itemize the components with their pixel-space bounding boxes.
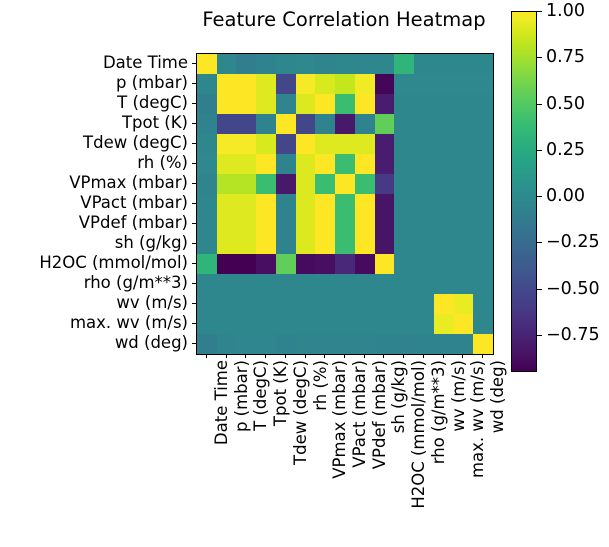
x-tick-label-1: p (mbar)	[232, 360, 251, 432]
heatmap-cell	[217, 154, 237, 174]
heatmap-cell	[414, 334, 434, 354]
heatmap-cell	[434, 174, 454, 194]
y-tick-label-12: wv (m/s)	[0, 293, 188, 313]
heatmap-cell	[434, 214, 454, 234]
heatmap-cell	[217, 114, 237, 134]
heatmap-cell	[315, 254, 335, 274]
heatmap-cell	[454, 314, 474, 334]
heatmap-cell	[276, 134, 296, 154]
y-tick-label-11: rho (g/m**3)	[0, 273, 188, 293]
heatmap-cell	[296, 154, 316, 174]
heatmap-cell	[236, 94, 256, 114]
colorbar-tick-mark-0	[537, 11, 542, 12]
heatmap-cell	[335, 94, 355, 114]
heatmap-cell	[217, 134, 237, 154]
heatmap-cell	[296, 334, 316, 354]
heatmap-cell	[473, 54, 493, 74]
heatmap-cell	[414, 274, 434, 294]
colorbar-tick-label-2: 0.50	[546, 94, 585, 114]
heatmap-cell	[315, 74, 335, 94]
heatmap-cell	[217, 234, 237, 254]
x-tick-mark-9	[383, 354, 384, 358]
colorbar-tick-mark-7	[537, 335, 542, 336]
heatmap-cell	[315, 214, 335, 234]
x-tick-mark-12	[443, 354, 444, 358]
heatmap-cell	[394, 314, 414, 334]
heatmap-cell	[217, 74, 237, 94]
heatmap-cell	[414, 154, 434, 174]
heatmap-cell	[335, 134, 355, 154]
y-tick-label-3: Tpot (K)	[0, 113, 188, 133]
heatmap-cell	[375, 134, 395, 154]
heatmap-cell	[414, 214, 434, 234]
heatmap-cell	[335, 74, 355, 94]
heatmap-cell	[315, 154, 335, 174]
heatmap-cell	[473, 314, 493, 334]
heatmap-cell	[355, 174, 375, 194]
heatmap-cell	[473, 154, 493, 174]
heatmap-cell	[394, 214, 414, 234]
heatmap-cell	[394, 134, 414, 154]
heatmap-cell	[217, 274, 237, 294]
heatmap-cell	[394, 334, 414, 354]
heatmap-cell	[335, 294, 355, 314]
heatmap-cell	[355, 214, 375, 234]
heatmap-cell	[276, 114, 296, 134]
heatmap-cell	[276, 234, 296, 254]
heatmap-cell	[414, 54, 434, 74]
heatmap-cell	[473, 294, 493, 314]
colorbar-tick-label-5: −0.25	[546, 232, 600, 252]
heatmap-cell	[375, 214, 395, 234]
heatmap-cell	[355, 94, 375, 114]
colorbar-tick-mark-2	[537, 104, 542, 105]
heatmap-cell	[236, 194, 256, 214]
heatmap-cell	[414, 254, 434, 274]
heatmap-cell	[296, 214, 316, 234]
x-tick-mark-14	[482, 354, 483, 358]
heatmap-cell	[197, 154, 217, 174]
heatmap-cell	[473, 254, 493, 274]
heatmap-cell	[296, 194, 316, 214]
heatmap-cell	[375, 74, 395, 94]
heatmap-cell	[276, 194, 296, 214]
heatmap-cell	[296, 134, 316, 154]
y-axis-tick-labels: Date Timep (mbar)T (degC)Tpot (K)Tdew (d…	[0, 53, 188, 353]
heatmap-cell	[315, 314, 335, 334]
x-tick-label-5: rh (%)	[311, 360, 330, 411]
colorbar-tick-mark-1	[537, 57, 542, 58]
heatmap-axes	[196, 53, 494, 355]
heatmap-cell	[394, 254, 414, 274]
heatmap-cell	[454, 94, 474, 114]
heatmap-cell	[434, 334, 454, 354]
heatmap-cell	[394, 274, 414, 294]
heatmap-cell	[414, 94, 434, 114]
heatmap-cell	[315, 274, 335, 294]
x-tick-mark-10	[403, 354, 404, 358]
heatmap-cell	[375, 314, 395, 334]
heatmap-cell	[296, 54, 316, 74]
heatmap-cell	[236, 294, 256, 314]
heatmap-cell	[454, 294, 474, 314]
colorbar-tick-mark-6	[537, 289, 542, 290]
heatmap-cell	[454, 254, 474, 274]
colorbar-tick-mark-5	[537, 242, 542, 243]
y-tick-label-8: VPdef (mbar)	[0, 213, 188, 233]
heatmap-cell	[454, 114, 474, 134]
heatmap-cell	[414, 134, 434, 154]
heatmap-cell	[236, 74, 256, 94]
heatmap-figure: Feature Correlation Heatmap Date Timep (…	[0, 0, 609, 547]
heatmap-cell	[197, 294, 217, 314]
heatmap-cell	[355, 194, 375, 214]
heatmap-cell	[394, 94, 414, 114]
heatmap-cell	[454, 194, 474, 214]
heatmap-cell	[256, 54, 276, 74]
heatmap-cell	[296, 234, 316, 254]
heatmap-cell	[434, 134, 454, 154]
heatmap-cell	[335, 114, 355, 134]
heatmap-cell	[217, 54, 237, 74]
heatmap-cell	[315, 94, 335, 114]
heatmap-cell	[414, 194, 434, 214]
colorbar-tick-label-6: −0.50	[546, 279, 600, 299]
heatmap-cell	[335, 254, 355, 274]
heatmap-cell	[355, 114, 375, 134]
heatmap-cell	[414, 294, 434, 314]
x-tick-label-9: sh (g/kg)	[389, 360, 408, 433]
heatmap-cell	[197, 194, 217, 214]
heatmap-cell	[394, 234, 414, 254]
heatmap-cell	[217, 194, 237, 214]
heatmap-cell	[276, 94, 296, 114]
heatmap-cell	[375, 254, 395, 274]
heatmap-cell	[394, 54, 414, 74]
heatmap-cell	[236, 54, 256, 74]
heatmap-cell	[197, 234, 217, 254]
x-tick-label-13: max. wv (m/s)	[468, 360, 487, 478]
heatmap-cell	[217, 174, 237, 194]
y-tick-label-13: max. wv (m/s)	[0, 313, 188, 333]
heatmap-cell	[434, 74, 454, 94]
heatmap-cell	[197, 254, 217, 274]
heatmap-cell	[434, 194, 454, 214]
heatmap-cell	[454, 54, 474, 74]
x-tick-mark-5	[305, 354, 306, 358]
heatmap-cell	[375, 154, 395, 174]
heatmap-cell	[335, 54, 355, 74]
colorbar-tick-label-3: 0.25	[546, 140, 585, 160]
heatmap-cell	[276, 334, 296, 354]
colorbar-tick-label-7: −0.75	[546, 325, 600, 345]
heatmap-cell	[315, 134, 335, 154]
x-tick-label-6: VPmax (mbar)	[330, 360, 349, 479]
x-tick-label-7: VPact (mbar)	[350, 360, 369, 468]
heatmap-cell	[197, 134, 217, 154]
heatmap-cell	[454, 134, 474, 154]
heatmap-cell	[276, 254, 296, 274]
heatmap-cell	[434, 314, 454, 334]
y-tick-label-2: T (degC)	[0, 93, 188, 113]
heatmap-cell	[454, 334, 474, 354]
x-tick-label-14: wd (deg)	[488, 360, 507, 433]
heatmap-cell	[375, 114, 395, 134]
heatmap-cell	[197, 274, 217, 294]
y-tick-label-4: Tdew (degC)	[0, 133, 188, 153]
x-tick-label-4: Tdew (degC)	[291, 360, 310, 465]
chart-title: Feature Correlation Heatmap	[196, 8, 492, 32]
heatmap-cell	[315, 334, 335, 354]
heatmap-cell	[375, 234, 395, 254]
heatmap-cell	[335, 194, 355, 214]
heatmap-cell	[276, 54, 296, 74]
colorbar-tick-labels: 1.000.750.500.250.00−0.25−0.50−0.75	[511, 11, 606, 372]
x-tick-mark-13	[462, 354, 463, 358]
heatmap-cell	[217, 334, 237, 354]
heatmap-cell	[434, 234, 454, 254]
heatmap-cell	[434, 94, 454, 114]
heatmap-cell	[276, 74, 296, 94]
heatmap-cell	[454, 214, 474, 234]
x-tick-label-0: Date Time	[212, 360, 231, 445]
heatmap-cell	[434, 274, 454, 294]
x-tick-mark-4	[285, 354, 286, 358]
x-tick-label-11: rho (g/m**3)	[429, 360, 448, 464]
heatmap-cell	[355, 54, 375, 74]
heatmap-cell	[197, 114, 217, 134]
heatmap-cell	[473, 174, 493, 194]
heatmap-cell	[473, 134, 493, 154]
heatmap-cell	[335, 174, 355, 194]
heatmap-cell	[296, 74, 316, 94]
heatmap-cell	[217, 294, 237, 314]
x-tick-label-3: Tpot (K)	[271, 360, 290, 426]
y-tick-label-6: VPmax (mbar)	[0, 173, 188, 193]
heatmap-cell-grid	[197, 54, 493, 354]
heatmap-cell	[296, 254, 316, 274]
heatmap-cell	[394, 114, 414, 134]
heatmap-cell	[335, 214, 355, 234]
heatmap-cell	[256, 114, 276, 134]
heatmap-cell	[256, 134, 276, 154]
heatmap-cell	[217, 214, 237, 234]
heatmap-cell	[335, 234, 355, 254]
heatmap-cell	[256, 74, 276, 94]
heatmap-cell	[276, 174, 296, 194]
y-tick-label-5: rh (%)	[0, 153, 188, 173]
heatmap-cell	[375, 274, 395, 294]
heatmap-cell	[256, 94, 276, 114]
heatmap-cell	[434, 294, 454, 314]
x-tick-mark-11	[423, 354, 424, 358]
heatmap-cell	[296, 174, 316, 194]
x-tick-mark-8	[364, 354, 365, 358]
heatmap-cell	[197, 74, 217, 94]
x-tick-mark-6	[324, 354, 325, 358]
heatmap-cell	[276, 294, 296, 314]
heatmap-cell	[335, 314, 355, 334]
heatmap-cell	[315, 294, 335, 314]
heatmap-cell	[236, 314, 256, 334]
heatmap-cell	[315, 174, 335, 194]
y-tick-label-7: VPact (mbar)	[0, 193, 188, 213]
heatmap-cell	[276, 314, 296, 334]
heatmap-cell	[414, 234, 434, 254]
heatmap-cell	[473, 114, 493, 134]
heatmap-cell	[355, 294, 375, 314]
x-tick-label-8: VPdef (mbar)	[370, 360, 389, 469]
heatmap-cell	[217, 94, 237, 114]
heatmap-cell	[296, 314, 316, 334]
heatmap-cell	[197, 214, 217, 234]
heatmap-cell	[355, 234, 375, 254]
x-tick-mark-1	[226, 354, 227, 358]
heatmap-cell	[217, 254, 237, 274]
heatmap-cell	[454, 154, 474, 174]
x-tick-label-2: T (degC)	[251, 360, 270, 431]
heatmap-cell	[256, 314, 276, 334]
heatmap-cell	[394, 194, 414, 214]
heatmap-cell	[434, 254, 454, 274]
heatmap-cell	[256, 154, 276, 174]
heatmap-cell	[355, 334, 375, 354]
heatmap-cell	[256, 334, 276, 354]
heatmap-cell	[355, 154, 375, 174]
heatmap-cell	[315, 114, 335, 134]
heatmap-cell	[236, 154, 256, 174]
heatmap-cell	[454, 234, 474, 254]
heatmap-cell	[236, 234, 256, 254]
heatmap-cell	[414, 114, 434, 134]
heatmap-cell	[434, 114, 454, 134]
heatmap-cell	[375, 194, 395, 214]
heatmap-cell	[236, 114, 256, 134]
heatmap-cell	[335, 154, 355, 174]
heatmap-cell	[335, 274, 355, 294]
heatmap-cell	[375, 54, 395, 74]
x-tick-label-12: wv (m/s)	[449, 360, 468, 432]
heatmap-cell	[236, 274, 256, 294]
heatmap-cell	[236, 334, 256, 354]
heatmap-cell	[276, 274, 296, 294]
y-tick-label-1: p (mbar)	[0, 73, 188, 93]
heatmap-cell	[394, 154, 414, 174]
heatmap-cell	[315, 234, 335, 254]
x-tick-label-10: H2OC (mmol/mol)	[409, 360, 428, 509]
heatmap-cell	[296, 294, 316, 314]
heatmap-cell	[236, 134, 256, 154]
heatmap-cell	[473, 334, 493, 354]
heatmap-cell	[375, 174, 395, 194]
heatmap-cell	[473, 234, 493, 254]
y-tick-label-14: wd (deg)	[0, 333, 188, 353]
heatmap-cell	[375, 334, 395, 354]
heatmap-cell	[454, 74, 474, 94]
y-tick-label-0: Date Time	[0, 53, 188, 73]
colorbar-tick-label-0: 1.00	[546, 1, 585, 21]
heatmap-cell	[197, 174, 217, 194]
heatmap-cell	[256, 194, 276, 214]
heatmap-cell	[355, 134, 375, 154]
heatmap-cell	[473, 74, 493, 94]
heatmap-cell	[414, 174, 434, 194]
heatmap-cell	[315, 54, 335, 74]
heatmap-cell	[375, 294, 395, 314]
y-tick-label-10: H2OC (mmol/mol)	[0, 253, 188, 273]
heatmap-cell	[276, 154, 296, 174]
heatmap-cell	[296, 274, 316, 294]
heatmap-cell	[256, 234, 276, 254]
heatmap-cell	[256, 274, 276, 294]
heatmap-cell	[256, 294, 276, 314]
y-tick-label-9: sh (g/kg)	[0, 233, 188, 253]
heatmap-cell	[414, 74, 434, 94]
heatmap-cell	[256, 174, 276, 194]
heatmap-cell	[454, 274, 474, 294]
heatmap-cell	[394, 74, 414, 94]
heatmap-cell	[197, 54, 217, 74]
heatmap-cell	[473, 214, 493, 234]
x-tick-mark-3	[265, 354, 266, 358]
heatmap-cell	[414, 314, 434, 334]
x-tick-mark-0	[206, 354, 207, 358]
heatmap-cell	[355, 254, 375, 274]
heatmap-cell	[473, 274, 493, 294]
heatmap-cell	[434, 154, 454, 174]
colorbar-tick-label-1: 0.75	[546, 47, 585, 67]
heatmap-cell	[335, 334, 355, 354]
heatmap-cell	[355, 274, 375, 294]
colorbar-tick-mark-4	[537, 196, 542, 197]
heatmap-cell	[276, 214, 296, 234]
heatmap-cell	[197, 334, 217, 354]
heatmap-cell	[197, 314, 217, 334]
heatmap-cell	[394, 174, 414, 194]
heatmap-cell	[473, 94, 493, 114]
heatmap-cell	[434, 54, 454, 74]
heatmap-cell	[375, 94, 395, 114]
heatmap-cell	[454, 174, 474, 194]
heatmap-cell	[236, 214, 256, 234]
heatmap-cell	[394, 294, 414, 314]
colorbar-tick-label-4: 0.00	[546, 186, 585, 206]
x-tick-mark-2	[245, 354, 246, 358]
heatmap-cell	[236, 254, 256, 274]
colorbar-tick-mark-3	[537, 150, 542, 151]
heatmap-cell	[256, 214, 276, 234]
heatmap-cell	[236, 174, 256, 194]
heatmap-cell	[296, 94, 316, 114]
x-tick-mark-7	[344, 354, 345, 358]
heatmap-cell	[296, 114, 316, 134]
heatmap-cell	[256, 254, 276, 274]
heatmap-cell	[197, 94, 217, 114]
heatmap-cell	[355, 74, 375, 94]
heatmap-cell	[473, 194, 493, 214]
x-axis-tick-labels: Date Timep (mbar)T (degC)Tpot (K)Tdew (d…	[196, 354, 492, 547]
heatmap-cell	[355, 314, 375, 334]
heatmap-cell	[315, 194, 335, 214]
heatmap-cell	[217, 314, 237, 334]
